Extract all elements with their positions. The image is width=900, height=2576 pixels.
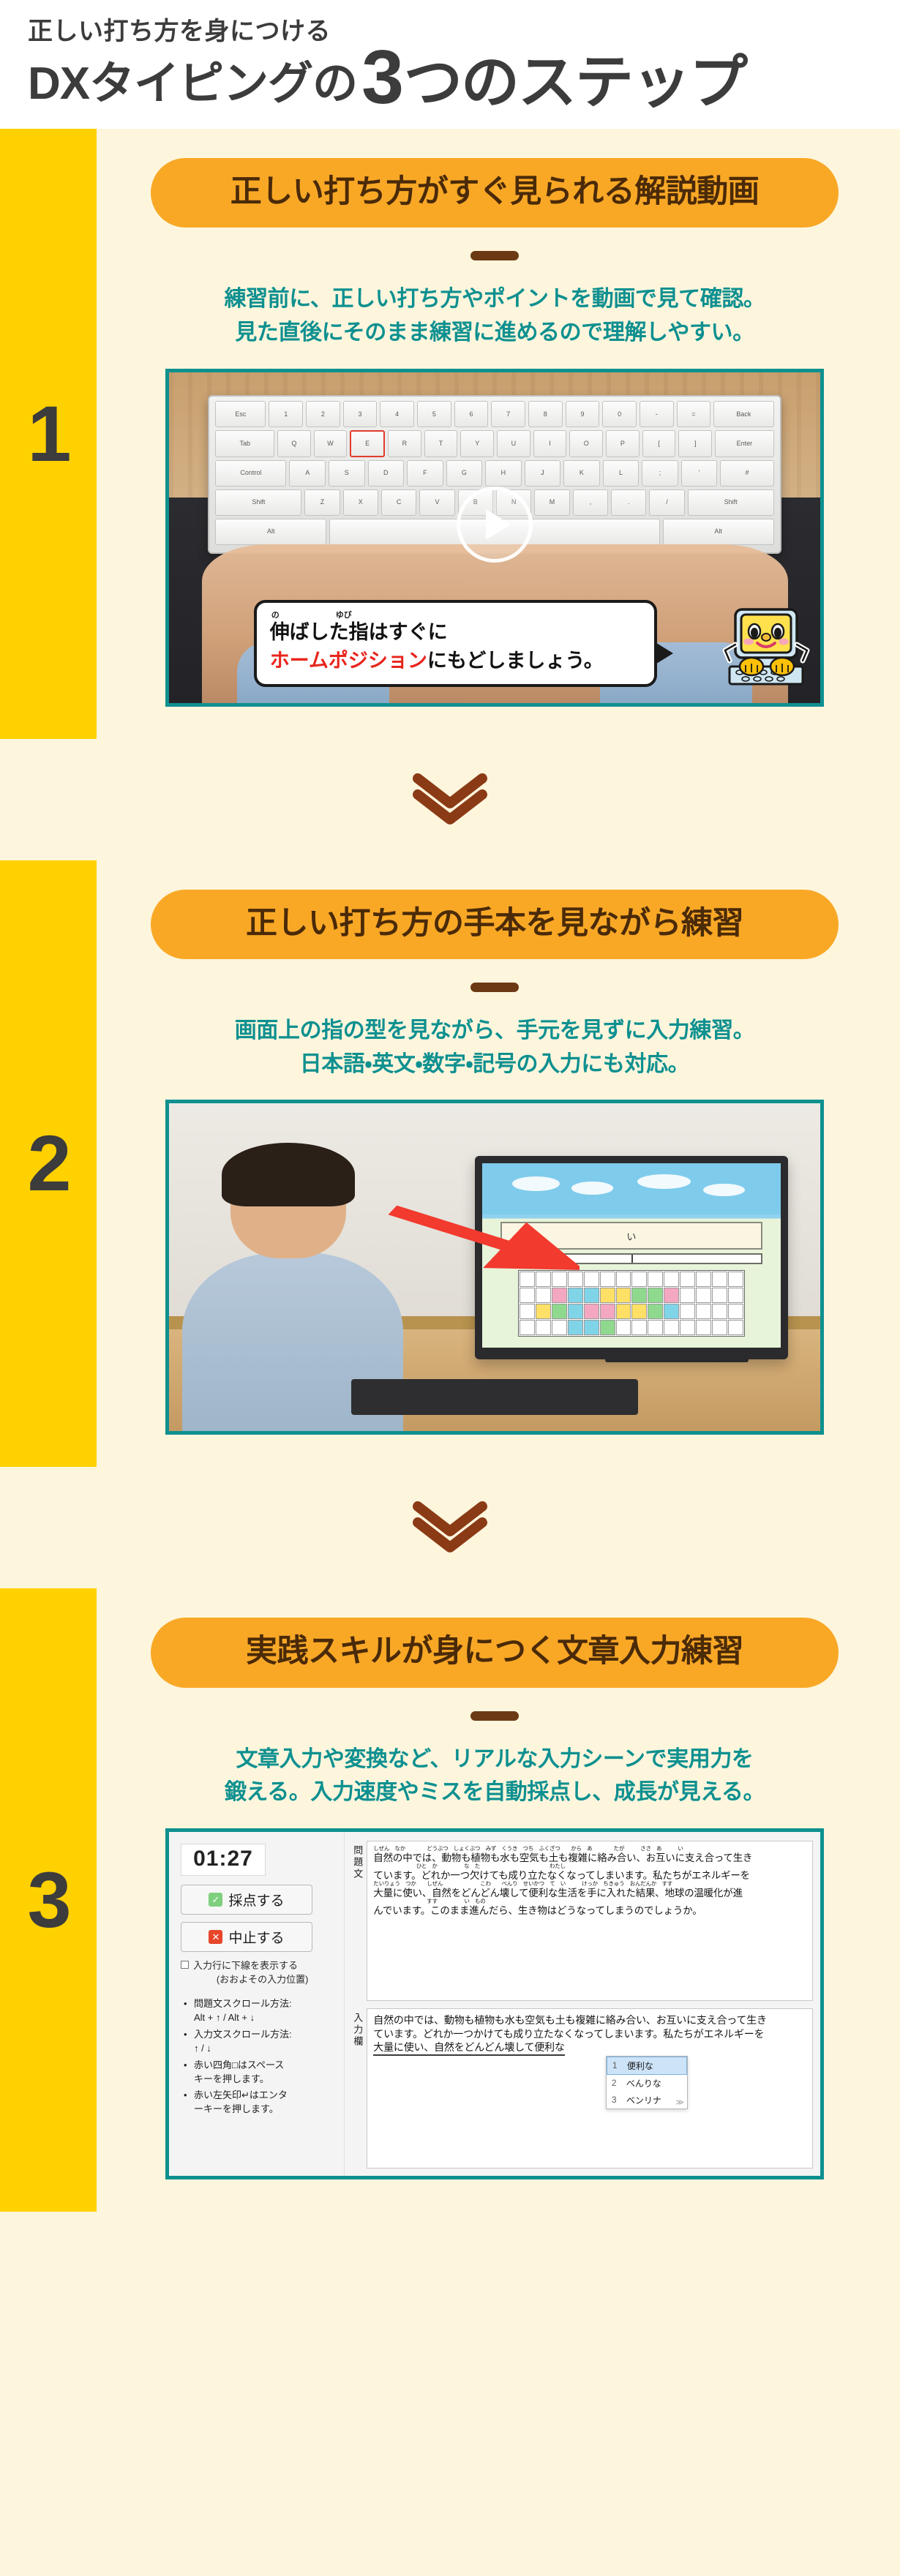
tip-sub: ーキーを押します。 (194, 2103, 279, 2114)
title-number: 3 (361, 47, 402, 109)
step-3-media: 01:27 ✓ 採点する ✕ 中止する 入力行に下線を表示する (165, 1828, 824, 2179)
checkbox-label: 入力行に下線を表示する (193, 1959, 298, 1972)
play-icon[interactable] (457, 487, 533, 563)
cloud (512, 1176, 560, 1191)
step-1: 1 正しい打ち方がすぐ見られる解説動画 練習前に、正しい打ち方やポイントを動画で… (0, 129, 900, 739)
score-button[interactable]: ✓ 採点する (181, 1885, 312, 1915)
subtitle-rest: にもどしましょう。 (427, 650, 604, 672)
key: Shift (215, 489, 301, 516)
tip-text: 入力文スクロール方法: ↑ / ↓ (194, 2028, 292, 2056)
question-ruby-3: たいりょう つか しぜん こわ べんり せいかつ て い けっか ちきゅう おん… (373, 1881, 806, 1888)
bullet-icon: • (184, 2089, 190, 2117)
tip-sub: キーを押します。 (194, 2073, 269, 2084)
subtitle-line-1: 伸ばした指はすぐに (270, 620, 642, 644)
step-2-description: 画面上の指の型を見ながら、手元を見ずに入力練習。 日本語・英文・数字・記号の入力… (154, 1014, 835, 1081)
key-highlighted: E (350, 430, 385, 457)
bullet-icon: • (184, 1997, 190, 2025)
question-line-3: 大量に使い、自然をどんどん壊して便利な生活を手に入れた結果、地球の温暖化が進 (373, 1888, 806, 1899)
list-item: • 赤い四角□はスペース キーを押します。 (184, 2059, 335, 2087)
title-part-a: DXタイピングの (28, 63, 357, 109)
ruby-no: の (271, 611, 280, 620)
step-1-media: Esc1234567890-=Back TabQWERTYUIOP[]Enter… (165, 369, 824, 707)
ime-candidate-2[interactable]: 2 べんりな (607, 2075, 687, 2092)
title-part-b: つのステップ (404, 56, 746, 109)
ime-candidate-1[interactable]: 1 便利な (607, 2057, 687, 2075)
step-divider-2 (0, 1467, 900, 1588)
question-ruby-2: ひと か な た わたし (373, 1863, 806, 1870)
ime-candidate-list[interactable]: 1 便利な 2 べんりな 3 ベンリナ (606, 2056, 688, 2109)
input-section: 入力欄 自然の中では、動物も植物も水も空気も土も複雑に絡み合い、お互いに支え合っ… (349, 2008, 813, 2168)
question-textbox: しぜん なか どうぶつ しょくぶつ みず くうき つち ふくざつ から あ たが… (367, 1841, 813, 2001)
ime-index: 2 (612, 2078, 619, 2088)
ruby-yubi: ゆび (336, 611, 352, 620)
subtitle-ruby-row: の ゆび (270, 612, 642, 620)
question-line-4: んでいます。このまま進んだら、生き物はどうなってしまうのでしょうか。 (373, 1905, 806, 1916)
ime-text: ベンリナ (626, 2094, 661, 2106)
list-item: • 問題文スクロール方法: Alt + ↑ / Alt + ↓ (184, 1997, 335, 2025)
input-line-2: ています。どれか一つかけても成り立たなくなってしまいます。私たちがエネルギーを (373, 2027, 806, 2041)
input-line-3: 大量に使い、自然をどんどん壊して便利な (373, 2040, 564, 2056)
bullet-icon: • (184, 2059, 190, 2087)
step-3-heading: 実践スキルが身につく文章入力練習 (151, 1618, 839, 1687)
step-2-body: 正しい打ち方の手本を見ながら練習 画面上の指の型を見ながら、手元を見ずに入力練習… (97, 860, 900, 1468)
step-3-description: 文章入力や変換など、リアルな入力シーンで実用力を 鍛える。入力速度やミスを自動採… (154, 1743, 835, 1809)
cancel-button-label: 中止する (228, 1927, 284, 1947)
key: Back (713, 401, 773, 427)
step-1-description: 練習前に、正しい打ち方やポイントを動画で見て確認。 見た直後にそのまま練習に進め… (154, 282, 835, 349)
key: Shift (688, 489, 774, 516)
question-label: 問題文 (349, 1841, 362, 2001)
tip-sub: Alt + ↑ / Alt + ↓ (194, 2012, 255, 2023)
timer-display: 01:27 (181, 1844, 266, 1876)
app-text-area: 問題文 しぜん なか どうぶつ しょくぶつ みず くうき つち ふくざつ から … (345, 1832, 820, 2176)
ime-text: 便利な (627, 2059, 653, 2072)
key: # (720, 460, 773, 487)
physical-keyboard (351, 1379, 638, 1415)
underline-checkbox[interactable]: 入力行に下線を表示する (181, 1959, 335, 1972)
question-line-1: 自然の中では、動物も植物も水も空気も土も複雑に絡み合い、お互いに支え合って生き (373, 1852, 806, 1863)
double-chevron-down-icon (410, 771, 490, 827)
step-2-dash (470, 983, 519, 992)
double-chevron-down-icon (410, 1499, 490, 1555)
keyboard-row: TabQWERTYUIOP[]Enter (215, 430, 773, 457)
step-3: 3 実践スキルが身につく文章入力練習 文章入力や変換など、リアルな入力シーンで実… (0, 1588, 900, 2212)
red-arrow-icon (384, 1202, 580, 1274)
step-1-desc-line-2: 見た直後にそのまま練習に進めるので理解しやすい。 (154, 316, 835, 350)
ime-text: べんりな (626, 2077, 661, 2089)
step-2: 2 正しい打ち方の手本を見ながら練習 画面上の指の型を見ながら、手元を見ずに入力… (0, 860, 900, 1468)
step-3-number-bar: 3 (0, 1588, 97, 2212)
keyboard-row (520, 1304, 743, 1319)
typing-app-screenshot: 01:27 ✓ 採点する ✕ 中止する 入力行に下線を表示する (169, 1832, 820, 2176)
input-line-1: 自然の中では、動物も植物も水も空気も土も複雑に絡み合い、お互いに支え合って生き (373, 2013, 806, 2027)
step-2-media: い (165, 1100, 824, 1435)
key: Control (215, 460, 286, 487)
key: Alt (663, 519, 774, 545)
subtitle-highlight: ホームポジション (270, 650, 427, 672)
step-divider-1 (0, 739, 900, 860)
check-icon: ✓ (209, 1893, 222, 1907)
key: Tab (215, 430, 274, 457)
page-header: 正しい打ち方を身につける DXタイピングの 3 つのステップ (0, 0, 900, 129)
step-2-number: 2 (27, 1124, 69, 1203)
step-2-heading: 正しい打ち方の手本を見ながら練習 (151, 890, 839, 959)
tip-main: 赤い四角□はスペース (194, 2059, 284, 2070)
key: Alt (215, 519, 326, 545)
step-1-number: 1 (27, 394, 69, 473)
cloud (571, 1182, 613, 1195)
play-triangle (486, 509, 511, 540)
list-item: • 赤い左矢印↵はエンタ ーキーを押します。 (184, 2089, 335, 2117)
keyboard-row: Esc1234567890-=Back (215, 401, 773, 427)
ime-index: 3 (612, 2095, 619, 2105)
list-item: • 入力文スクロール方法: ↑ / ↓ (184, 2028, 335, 2056)
ime-index: 1 (612, 2060, 620, 2070)
step-2-number-bar: 2 (0, 860, 97, 1468)
step-1-dash (470, 251, 519, 260)
step-3-desc-line-2: 鍛える。入力速度やミスを自動採点し、成長が見える。 (154, 1776, 835, 1809)
checkbox-sublabel: (おおよその入力位置) (181, 1972, 335, 1986)
tip-main: 赤い左矢印↵はエンタ (194, 2089, 288, 2100)
keyboard-row (520, 1320, 743, 1335)
video-subtitle-bubble: の ゆび 伸ばした指はすぐに ホームポジションにもどしましょう。 (254, 600, 658, 686)
onscreen-keyboard (518, 1270, 744, 1337)
tip-text: 赤い四角□はスペース キーを押します。 (194, 2059, 284, 2087)
question-section: 問題文 しぜん なか どうぶつ しょくぶつ みず くうき つち ふくざつ から … (349, 1841, 813, 2001)
input-label: 入力欄 (349, 2008, 362, 2168)
subtitle-line-2: ホームポジションにもどしましょう。 (270, 648, 642, 674)
practice-photo: い (169, 1103, 820, 1431)
input-textbox[interactable]: 自然の中では、動物も植物も水も空気も土も複雑に絡み合い、お互いに支え合って生き … (367, 2008, 813, 2168)
header-subtitle: 正しい打ち方を身につける (28, 19, 900, 44)
step-1-desc-line-1: 練習前に、正しい打ち方やポイントを動画で見て確認。 (154, 282, 835, 316)
step-3-desc-line-1: 文章入力や変換など、リアルな入力シーンで実用力を (154, 1743, 835, 1776)
page-title: DXタイピングの 3 つのステップ (28, 47, 900, 109)
keyboard-row: ControlASDFGHJKL;'# (215, 460, 773, 487)
pc-mascot-icon (719, 605, 813, 696)
question-line-2: ています。どれか一つ欠けても成り立たなくなってしまいます。私たちがエネルギーを (373, 1870, 806, 1881)
key: Esc (215, 401, 266, 427)
tip-text: 赤い左矢印↵はエンタ ーキーを押します。 (194, 2089, 288, 2117)
step-3-body: 実践スキルが身につく文章入力練習 文章入力や変換など、リアルな入力シーンで実用力… (97, 1588, 900, 2212)
step-3-number: 3 (27, 1860, 69, 1939)
infographic-page: 正しい打ち方を身につける DXタイピングの 3 つのステップ 1 正しい打ち方が… (0, 0, 900, 2576)
tip-main: 問題文スクロール方法: (194, 1998, 292, 2009)
step-1-heading: 正しい打ち方がすぐ見られる解説動画 (151, 158, 839, 228)
cloud (703, 1184, 745, 1197)
checkbox-box[interactable] (181, 1961, 189, 1969)
tutorial-video-thumbnail[interactable]: Esc1234567890-=Back TabQWERTYUIOP[]Enter… (169, 372, 820, 703)
tip-text: 問題文スクロール方法: Alt + ↑ / Alt + ↓ (194, 1997, 292, 2025)
keyboard-row (520, 1288, 743, 1303)
tip-main: 入力文スクロール方法: (194, 2029, 292, 2040)
tip-sub: ↑ / ↓ (194, 2043, 211, 2054)
bullet-icon: • (184, 2028, 190, 2056)
step-2-desc-line-1: 画面上の指の型を見ながら、手元を見ずに入力練習。 (154, 1014, 835, 1048)
step-1-number-bar: 1 (0, 129, 97, 739)
person-hair (222, 1143, 355, 1206)
step-1-body: 正しい打ち方がすぐ見られる解説動画 練習前に、正しい打ち方やポイントを動画で見て… (97, 129, 900, 739)
score-button-label: 採点する (228, 1890, 284, 1910)
close-icon: ✕ (209, 1930, 222, 1944)
step-2-desc-line-2: 日本語・英文・数字・記号の入力にも対応。 (154, 1048, 835, 1081)
cancel-button[interactable]: ✕ 中止する (181, 1922, 312, 1952)
key: Enter (715, 430, 774, 457)
ime-expand-icon[interactable]: ≫ (675, 2098, 684, 2107)
question-ruby-1: しぜん なか どうぶつ しょくぶつ みず くうき つち ふくざつ から あ たが… (373, 1846, 806, 1852)
app-control-panel: 01:27 ✓ 採点する ✕ 中止する 入力行に下線を表示する (169, 1832, 345, 2176)
step-3-dash (470, 1711, 519, 1721)
question-ruby-4: すす い もの (373, 1899, 806, 1905)
tips-list: • 問題文スクロール方法: Alt + ↑ / Alt + ↓ • 入力文スクロ… (181, 1997, 335, 2117)
target-word: い (626, 1229, 636, 1243)
